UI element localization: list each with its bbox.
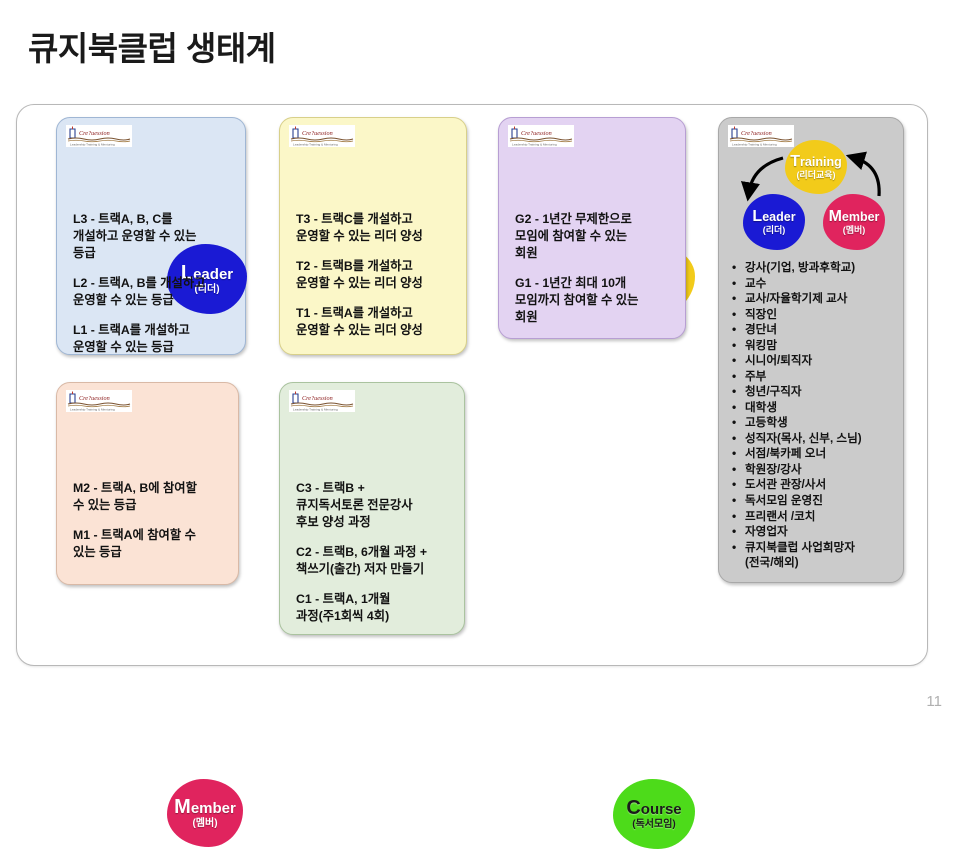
persona-item: 서점/북카페 오너 xyxy=(729,446,897,462)
card-group-body: G2 - 1년간 무제한으로 모임에 참여할 수 있는 회원 G1 - 1년간 … xyxy=(515,211,673,326)
persona-item: 교사/자율학기제 교사 xyxy=(729,291,897,307)
cycle-leader-ko: (리더) xyxy=(763,226,786,235)
card-course-body: C3 - 트랙B + 큐지독서토론 전문강사 후보 양성 과정 C2 - 트랙B… xyxy=(296,480,452,625)
card-course-line-2: C2 - 트랙B, 6개월 과정 + 책쓰기(출간) 저자 만들기 xyxy=(296,544,452,578)
card-course[interactable]: Cre?uession Leadership Training & Mentor… xyxy=(279,382,465,635)
badge-course: Course (독서모임) xyxy=(613,779,695,849)
svg-text:Cre?uession: Cre?uession xyxy=(741,130,772,137)
svg-text:Cre?uession: Cre?uession xyxy=(521,130,552,137)
card-leader-line-2: L2 - 트랙A, B를 개설하고 운영할 수 있는 등급 xyxy=(73,275,233,309)
persona-item: 독서모임 운영진 xyxy=(729,493,897,509)
cre-question-logo-icon: Cre?uession Leadership Training & Mentor… xyxy=(508,125,574,147)
persona-item: 주부 xyxy=(729,369,897,385)
card-group-line-2: G1 - 1년간 최대 10개 모임까지 참여할 수 있는 회원 xyxy=(515,275,673,326)
badge-course-ko: (독서모임) xyxy=(632,820,675,830)
cycle-training-en: Training xyxy=(790,154,841,170)
card-member-line-2: M1 - 트랙A에 참여할 수 있는 등급 xyxy=(73,527,226,561)
card-training[interactable]: Cre?uession Leadership Training & Mentor… xyxy=(279,117,467,355)
persona-item: 시니어/퇴직자 xyxy=(729,353,897,369)
persona-item: 성직자(목사, 신부, 스님) xyxy=(729,431,897,447)
card-training-line-1: T3 - 트랙C를 개설하고 운영할 수 있는 리더 양성 xyxy=(296,211,454,245)
card-leader-line-1: L3 - 트랙A, B, C를 개설하고 운영할 수 있는 등급 xyxy=(73,211,233,262)
persona-item: 도서관 관장/사서 xyxy=(729,477,897,493)
persona-item: 자영업자 xyxy=(729,524,897,540)
persona-item: 학원장/강사 xyxy=(729,462,897,478)
badge-member-ko: (멤버) xyxy=(192,819,217,829)
arrow-training-to-leader xyxy=(749,158,783,192)
badge-course-en: Course xyxy=(626,798,681,818)
cycle-training-ko: (리더교육) xyxy=(796,171,835,180)
card-training-line-3: T1 - 트랙A를 개설하고 운영할 수 있는 리더 양성 xyxy=(296,305,454,339)
svg-text:Leadership Training & Mentorin: Leadership Training & Mentoring xyxy=(70,143,115,147)
svg-text:Leadership Training & Mentorin: Leadership Training & Mentoring xyxy=(512,143,557,147)
cycle-member-ko: (멤버) xyxy=(843,226,866,235)
card-course-line-1: C3 - 트랙B + 큐지독서토론 전문강사 후보 양성 과정 xyxy=(296,480,452,531)
card-group[interactable]: Cre?uession Leadership Training & Mentor… xyxy=(498,117,686,339)
persona-item: 큐지북클럽 사업희망자 (전국/해외) xyxy=(729,540,897,571)
cre-question-logo-icon: Cre?uession Leadership Training & Mentor… xyxy=(66,125,132,147)
svg-text:Leadership Training & Mentorin: Leadership Training & Mentoring xyxy=(293,408,338,412)
card-member-body: M2 - 트랙A, B에 참여할 수 있는 등급 M1 - 트랙A에 참여할 수… xyxy=(73,480,226,561)
badge-member: Member (멤버) xyxy=(167,779,243,847)
ecosystem-cycle-diagram: Training (리더교육) Leader (리더) Member (멤버) xyxy=(719,140,905,258)
cycle-node-member: Member (멤버) xyxy=(823,194,885,250)
badge-member-en: Member xyxy=(174,797,236,817)
persona-item: 교수 xyxy=(729,276,897,292)
svg-text:Cre?uession: Cre?uession xyxy=(302,130,333,137)
svg-text:Cre?uession: Cre?uession xyxy=(79,395,110,402)
card-training-body: T3 - 트랙C를 개설하고 운영할 수 있는 리더 양성 T2 - 트랙B를 … xyxy=(296,211,454,339)
svg-text:Leadership Training & Mentorin: Leadership Training & Mentoring xyxy=(293,143,338,147)
persona-item: 워킹맘 xyxy=(729,338,897,354)
card-member-line-1: M2 - 트랙A, B에 참여할 수 있는 등급 xyxy=(73,480,226,514)
cycle-node-leader: Leader (리더) xyxy=(743,194,805,250)
svg-text:Cre?uession: Cre?uession xyxy=(79,130,110,137)
arrow-member-to-training xyxy=(855,158,879,196)
svg-text:Cre?uession: Cre?uession xyxy=(302,395,333,402)
svg-text:Leadership Training & Mentorin: Leadership Training & Mentoring xyxy=(70,408,115,412)
persona-item: 강사(기업, 방과후학교) xyxy=(729,260,897,276)
persona-item: 직장인 xyxy=(729,307,897,323)
cycle-leader-en: Leader xyxy=(752,209,795,225)
card-group-line-1: G2 - 1년간 무제한으로 모임에 참여할 수 있는 회원 xyxy=(515,211,673,262)
card-leader[interactable]: Cre?uession Leadership Training & Mentor… xyxy=(56,117,246,355)
cycle-member-en: Member xyxy=(829,209,880,225)
page-title: 큐지북클럽 생태계 xyxy=(28,22,276,70)
card-training-line-2: T2 - 트랙B를 개설하고 운영할 수 있는 리더 양성 xyxy=(296,258,454,292)
cre-question-logo-icon: Cre?uession Leadership Training & Mentor… xyxy=(289,390,355,412)
persona-item: 프리랜서 /코치 xyxy=(729,509,897,525)
cycle-node-training: Training (리더교육) xyxy=(785,140,847,194)
cre-question-logo-icon: Cre?uession Leadership Training & Mentor… xyxy=(289,125,355,147)
card-leader-body: L3 - 트랙A, B, C를 개설하고 운영할 수 있는 등급 L2 - 트랙… xyxy=(73,211,233,356)
persona-list: 강사(기업, 방과후학교)교수교사/자율학기제 교사직장인경단녀워킹맘시니어/퇴… xyxy=(729,260,897,571)
card-course-line-3: C1 - 트랙A, 1개월 과정(주1회씩 4회) xyxy=(296,591,452,625)
cre-question-logo-icon: Cre?uession Leadership Training & Mentor… xyxy=(66,390,132,412)
persona-item: 경단녀 xyxy=(729,322,897,338)
persona-item: 고등학생 xyxy=(729,415,897,431)
card-leader-line-3: L1 - 트랙A를 개설하고 운영할 수 있는 등급 xyxy=(73,322,233,356)
persona-item: 청년/구직자 xyxy=(729,384,897,400)
page-number: 11 xyxy=(926,693,942,710)
card-member[interactable]: Cre?uession Leadership Training & Mentor… xyxy=(56,382,239,585)
persona-item: 대학생 xyxy=(729,400,897,416)
card-ecosystem[interactable]: Cre?uession Leadership Training & Mentor… xyxy=(718,117,904,583)
